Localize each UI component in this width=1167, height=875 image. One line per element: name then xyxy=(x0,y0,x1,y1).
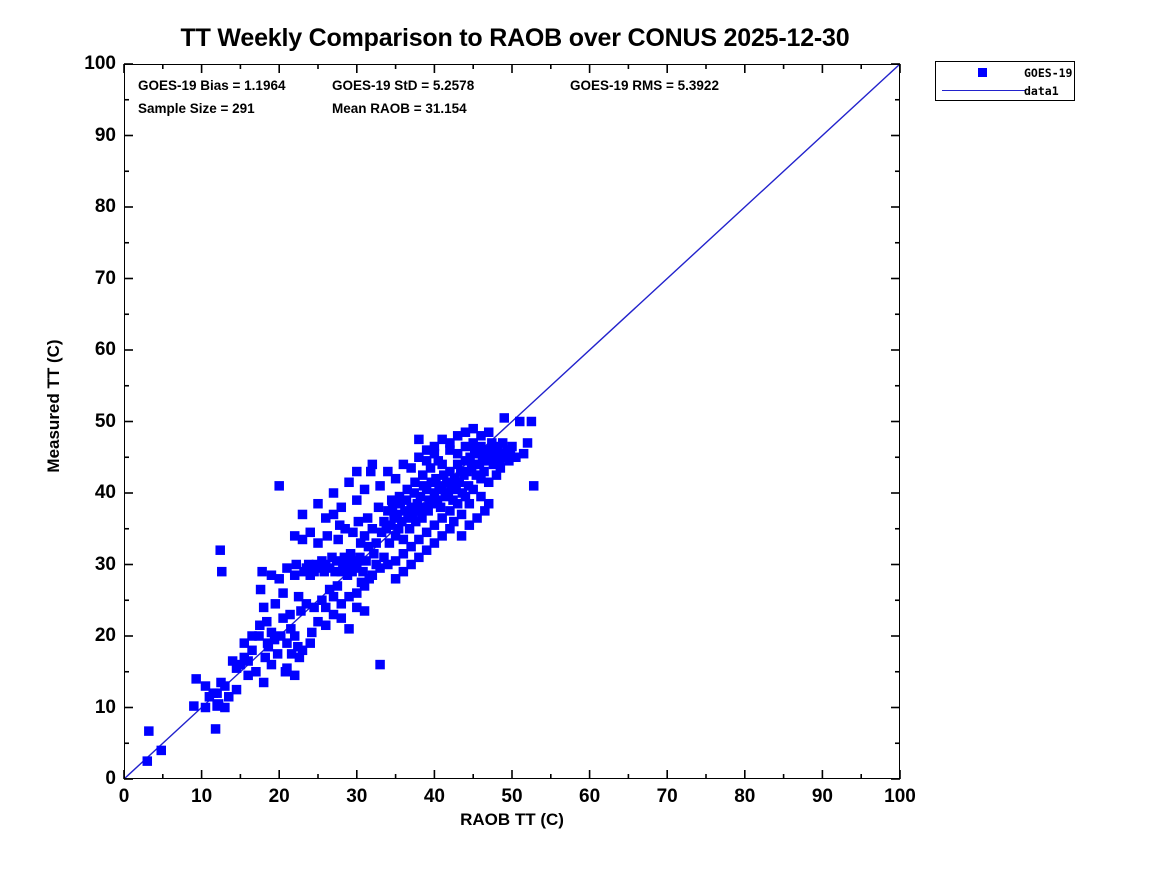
y-tick-label: 90 xyxy=(60,125,116,147)
x-tick-label: 10 xyxy=(167,786,237,808)
y-tick-label: 40 xyxy=(60,482,116,504)
y-tick-label: 50 xyxy=(60,411,116,433)
x-tick-label: 60 xyxy=(555,786,625,808)
legend-entry-goes19[interactable]: GOES-19 xyxy=(936,63,1074,82)
legend-label-data1: data1 xyxy=(1024,84,1059,98)
x-axis-label: RAOB TT (C) xyxy=(124,810,900,830)
y-tick-label: 20 xyxy=(60,625,116,647)
y-axis-label: Measured TT (C) xyxy=(44,296,64,516)
legend-symbol-cell xyxy=(940,81,1024,100)
chart-title: TT Weekly Comparison to RAOB over CONUS … xyxy=(0,24,1030,53)
y-tick-label: 100 xyxy=(60,53,116,75)
x-tick-label: 90 xyxy=(787,786,857,808)
x-tick-label: 30 xyxy=(322,786,392,808)
plot-area xyxy=(124,64,900,779)
legend-label-goes19: GOES-19 xyxy=(1024,66,1072,80)
y-tick-label: 60 xyxy=(60,339,116,361)
x-tick-label: 0 xyxy=(89,786,159,808)
x-tick-label: 70 xyxy=(632,786,702,808)
legend-symbol-cell xyxy=(940,63,1024,82)
y-tick-label: 70 xyxy=(60,268,116,290)
legend-entry-data1[interactable]: data1 xyxy=(936,81,1074,100)
chart-figure: TT Weekly Comparison to RAOB over CONUS … xyxy=(0,0,1167,875)
y-tick-label: 80 xyxy=(60,196,116,218)
x-tick-label: 50 xyxy=(477,786,547,808)
x-tick-label: 100 xyxy=(865,786,935,808)
axis-ticks-layer xyxy=(124,64,900,779)
y-tick-label: 10 xyxy=(60,697,116,719)
legend-square-marker-icon xyxy=(978,68,987,77)
x-tick-label: 20 xyxy=(244,786,314,808)
y-tick-label: 30 xyxy=(60,554,116,576)
x-tick-label: 40 xyxy=(399,786,469,808)
legend-line-icon xyxy=(942,90,1026,91)
x-tick-label: 80 xyxy=(710,786,780,808)
legend: GOES-19 data1 xyxy=(935,61,1075,101)
